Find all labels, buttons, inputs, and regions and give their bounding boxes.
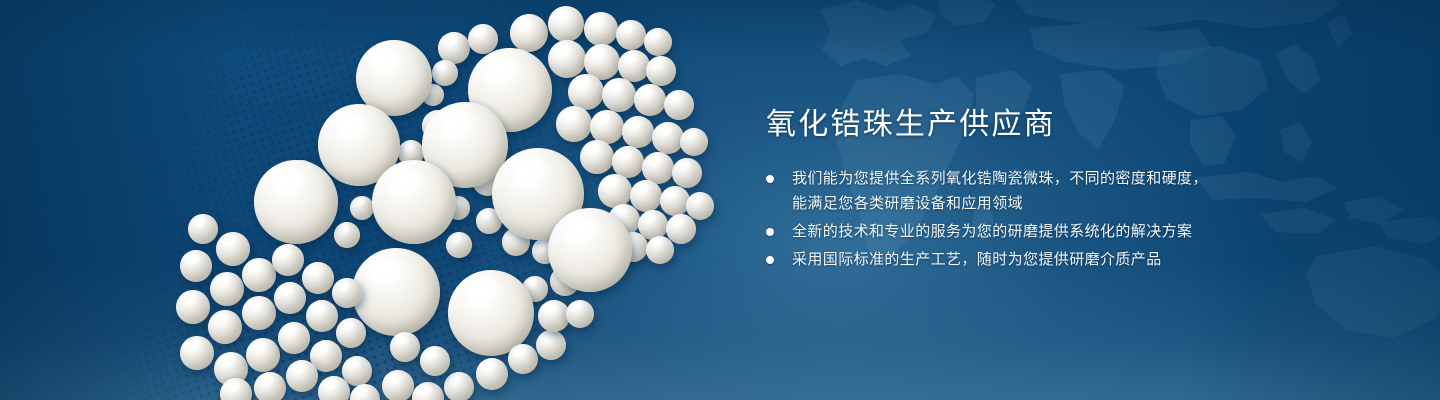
bullet-dot-icon bbox=[766, 256, 774, 264]
list-item: 采用国际标准的生产工艺，随时为您提供研磨介质产品 bbox=[766, 247, 1406, 272]
bullet-dot-icon bbox=[766, 175, 774, 183]
list-item: 我们能为您提供全系列氧化锆陶瓷微珠，不同的密度和硬度， 能满足您各类研磨设备和应… bbox=[766, 166, 1406, 216]
feature-list: 我们能为您提供全系列氧化锆陶瓷微珠，不同的密度和硬度， 能满足您各类研磨设备和应… bbox=[766, 166, 1406, 272]
list-item-line-1: 全新的技术和专业的服务为您的研磨提供系统化的解决方案 bbox=[792, 223, 1192, 240]
list-item: 全新的技术和专业的服务为您的研磨提供系统化的解决方案 bbox=[766, 219, 1406, 244]
bullet-dot-icon bbox=[766, 228, 774, 236]
list-item-line-1: 我们能为您提供全系列氧化锆陶瓷微珠，不同的密度和硬度， bbox=[792, 170, 1208, 187]
list-item-line-1: 采用国际标准的生产工艺，随时为您提供研磨介质产品 bbox=[792, 251, 1162, 268]
banner-text-block: 氧化锆珠生产供应商 我们能为您提供全系列氧化锆陶瓷微珠，不同的密度和硬度， 能满… bbox=[766, 106, 1406, 275]
page-title: 氧化锆珠生产供应商 bbox=[766, 106, 1406, 144]
hero-banner: 氧化锆珠生产供应商 我们能为您提供全系列氧化锆陶瓷微珠，不同的密度和硬度， 能满… bbox=[0, 0, 1440, 400]
list-item-line-2: 能满足您各类研磨设备和应用领域 bbox=[792, 191, 1406, 216]
